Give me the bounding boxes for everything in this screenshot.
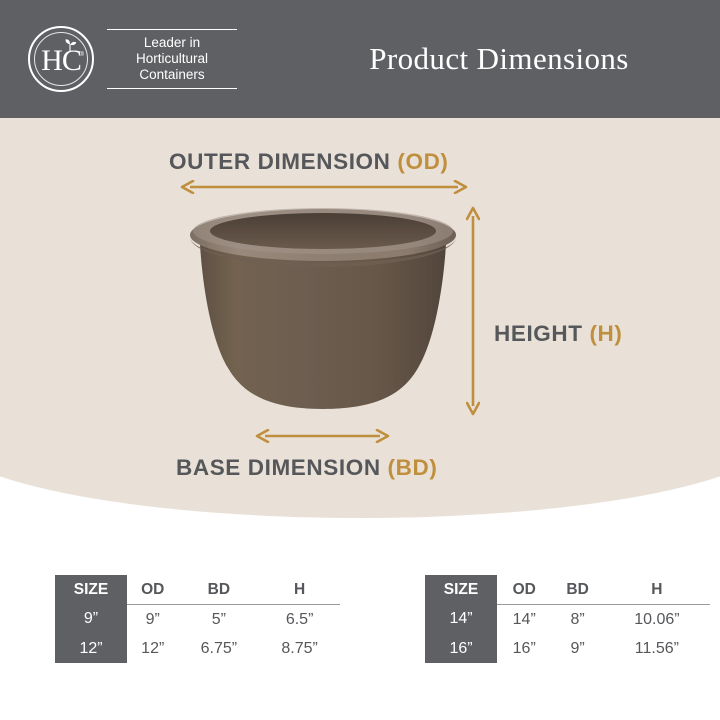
table-row: 14” 14” 8” 10.06” [425,605,710,635]
table-row: 9” 9” 5” 6.5” [55,605,340,635]
tagline-line-2: Horticultural [107,51,237,67]
planter-pot-illustration [178,208,468,420]
outer-dimension-abbr: (OD) [397,149,448,174]
tagline-line-1: Leader in [107,35,237,51]
column-header-od: OD [127,575,178,605]
table-row: 12” 12” 6.75” 8.75” [55,634,340,663]
bd-arrow-icon [255,429,390,443]
outer-dimension-text: OUTER DIMENSION [169,149,391,174]
diagram-panel: OUTER DIMENSION (OD) [0,118,720,518]
height-text: HEIGHT [494,321,583,346]
cell-bd: 6.75” [178,634,259,663]
table-header-row: SIZE OD BD H [425,575,710,605]
column-header-bd: BD [551,575,603,605]
cell-od: 9” [127,605,178,635]
cell-size: 14” [425,605,497,635]
size-table-left: SIZE OD BD H 9” 9” 5” 6.5” 12” 12” 6.75”… [55,575,340,663]
base-dimension-text: BASE DIMENSION [176,455,381,480]
table-row: 16” 16” 9” 11.56” [425,634,710,663]
cell-h: 10.06” [604,605,710,635]
column-header-size: SIZE [425,575,497,605]
cell-h: 6.5” [259,605,340,635]
size-table-right: SIZE OD BD H 14” 14” 8” 10.06” 16” 16” 9… [425,575,710,663]
column-header-h: H [604,575,710,605]
cell-size: 16” [425,634,497,663]
cell-bd: 8” [551,605,603,635]
cell-h: 11.56” [604,634,710,663]
page-title: Product Dimensions [318,41,680,77]
od-arrow-icon [180,180,468,194]
cell-h: 8.75” [259,634,340,663]
column-header-h: H [259,575,340,605]
table-header-row: SIZE OD BD H [55,575,340,605]
page-header: HC ® Leader in Horticultural Containers … [0,0,720,118]
cell-od: 14” [497,605,551,635]
column-header-size: SIZE [55,575,127,605]
outer-dimension-label: OUTER DIMENSION (OD) [169,149,449,175]
hc-logo: HC ® [28,26,94,92]
brand-lockup: HC ® Leader in Horticultural Containers [28,26,318,92]
leaf-icon [63,39,77,52]
column-header-bd: BD [178,575,259,605]
height-abbr: (H) [589,321,622,346]
cell-bd: 5” [178,605,259,635]
cell-bd: 9” [551,634,603,663]
base-dimension-label: BASE DIMENSION (BD) [176,455,437,481]
height-arrow-icon [466,206,480,416]
cell-size: 12” [55,634,127,663]
base-dimension-abbr: (BD) [388,455,438,480]
cell-od: 16” [497,634,551,663]
tagline-line-3: Containers [107,67,237,83]
cell-od: 12” [127,634,178,663]
height-label: HEIGHT (H) [494,321,623,347]
cell-size: 9” [55,605,127,635]
registered-mark: ® [80,52,84,58]
brand-tagline: Leader in Horticultural Containers [107,29,237,89]
column-header-od: OD [497,575,551,605]
